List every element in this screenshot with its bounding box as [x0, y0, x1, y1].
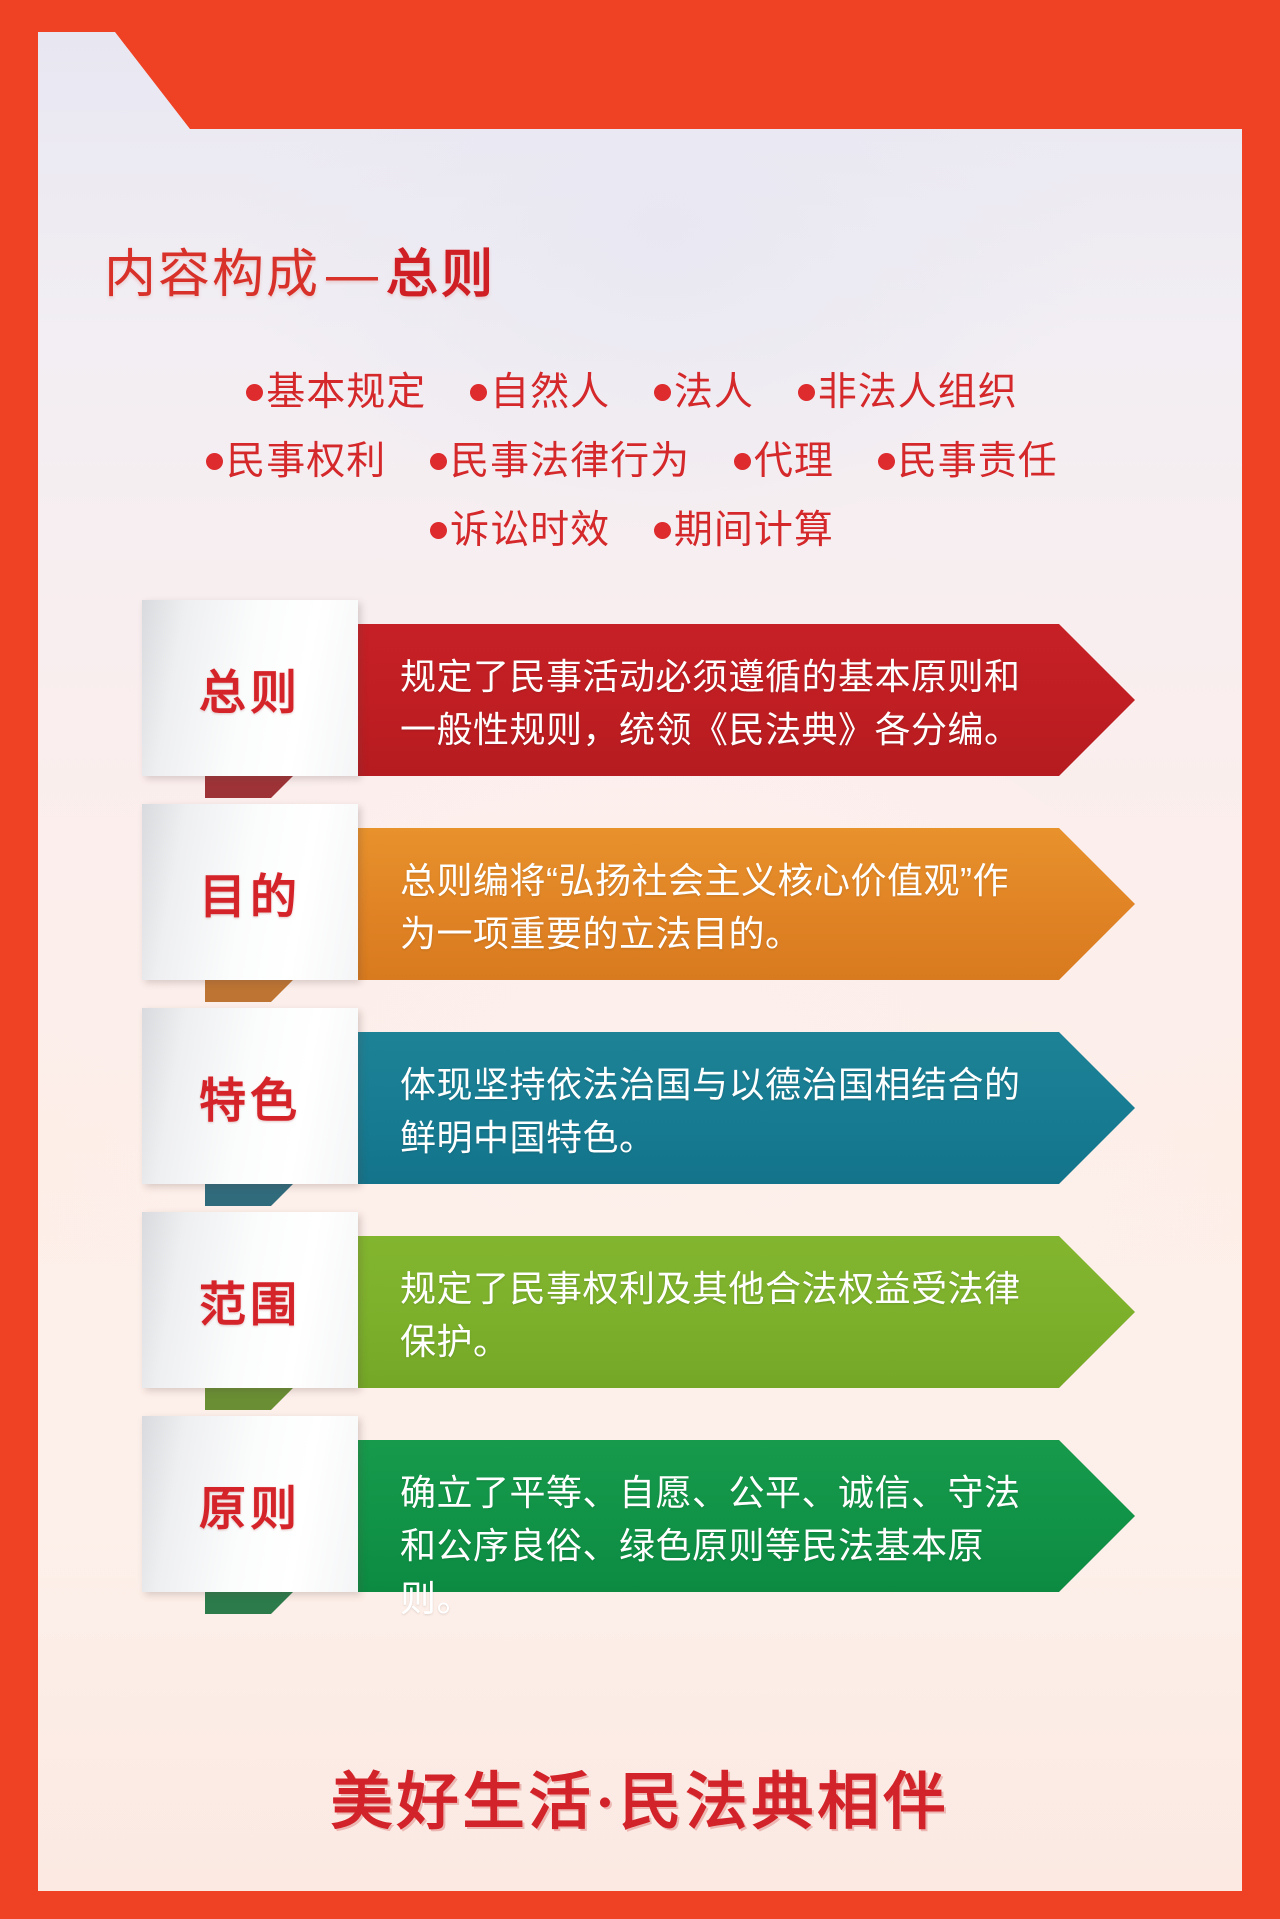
arrow-band-text: 规定了民事权利及其他合法权益受法律保护。	[400, 1262, 1025, 1368]
arrow-label: 原则	[199, 1470, 301, 1539]
bullet-item: 诉讼时效	[430, 496, 610, 565]
poster: 第四个“民法典宣传月” | 2024年5月 内容构成—总则 基本规定 自然人 法…	[0, 0, 1280, 1919]
header-banner	[0, 0, 1280, 129]
bullet-dot-icon	[654, 522, 671, 539]
bullet-label: 民事法律行为	[450, 440, 690, 483]
arrow-row-mudi: 总则编将“弘扬社会主义核心价值观”作为一项重要的立法目的。 目的	[0, 804, 1280, 980]
bullet-item: 代理	[734, 427, 834, 496]
section-title-strong: 总则	[386, 246, 496, 304]
bullet-row-1: 基本规定 自然人 法人 非法人组织	[0, 358, 1280, 427]
bullet-dot-icon	[470, 384, 487, 401]
arrow-band-text: 确立了平等、自愿、公平、诚信、守法和公序良俗、绿色原则等民法基本原则。	[400, 1466, 1025, 1625]
arrow-label: 总则	[199, 654, 301, 723]
bullet-dot-icon	[734, 453, 751, 470]
arrow-band-shadow	[205, 1184, 293, 1206]
arrow-label-card: 特色	[142, 1008, 358, 1184]
bullet-item: 期间计算	[654, 496, 834, 565]
bullet-label: 诉讼时效	[450, 509, 610, 552]
bullet-list: 基本规定 自然人 法人 非法人组织 民事权利 民事法律行为 代理 民事责任 诉讼…	[0, 358, 1280, 565]
bullet-label: 期间计算	[674, 509, 834, 552]
bullet-label: 民事权利	[226, 440, 386, 483]
bullet-label: 基本规定	[266, 371, 426, 414]
bullet-dot-icon	[206, 453, 223, 470]
bullet-item: 民事权利	[206, 427, 386, 496]
arrow-row-yuanze: 确立了平等、自愿、公平、诚信、守法和公序良俗、绿色原则等民法基本原则。 原则	[0, 1416, 1280, 1592]
bullet-row-3: 诉讼时效 期间计算	[0, 496, 1280, 565]
bullet-dot-icon	[246, 384, 263, 401]
section-title: 内容构成—总则	[104, 232, 496, 307]
bullet-label: 民事责任	[898, 440, 1058, 483]
arrow-band-shadow	[205, 1388, 293, 1410]
bullet-label: 法人	[674, 371, 754, 414]
arrow-band-text: 规定了民事活动必须遵循的基本原则和一般性规则，统领《民法典》各分编。	[400, 650, 1025, 756]
bullet-dot-icon	[654, 384, 671, 401]
arrow-band-shadow	[205, 776, 293, 798]
bullet-dot-icon	[430, 522, 447, 539]
arrow-row-zongze: 规定了民事活动必须遵循的基本原则和一般性规则，统领《民法典》各分编。 总则	[0, 600, 1280, 776]
arrow-row-fanwei: 规定了民事权利及其他合法权益受法律保护。 范围	[0, 1212, 1280, 1388]
footer-slogan-wrap: 美好生活·民法典相伴	[0, 1751, 1280, 1841]
bullet-label: 自然人	[490, 371, 610, 414]
bullet-item: 法人	[654, 358, 754, 427]
arrow-row-tese: 体现坚持依法治国与以德治国相结合的鲜明中国特色。 特色	[0, 1008, 1280, 1184]
bullet-item: 基本规定	[246, 358, 426, 427]
bullet-dot-icon	[430, 453, 447, 470]
arrow-band-text: 体现坚持依法治国与以德治国相结合的鲜明中国特色。	[400, 1058, 1025, 1164]
arrow-band-text: 总则编将“弘扬社会主义核心价值观”作为一项重要的立法目的。	[400, 854, 1025, 960]
arrow-label: 特色	[199, 1062, 301, 1131]
section-title-dash: —	[320, 246, 386, 304]
footer-slogan: 美好生活·民法典相伴	[331, 1769, 950, 1837]
bullet-dot-icon	[798, 384, 815, 401]
arrow-label: 范围	[199, 1266, 301, 1335]
bullet-dot-icon	[878, 453, 895, 470]
bullet-row-2: 民事权利 民事法律行为 代理 民事责任	[0, 427, 1280, 496]
arrow-label-card: 总则	[142, 600, 358, 776]
bullet-item: 非法人组织	[798, 358, 1018, 427]
bullet-item: 自然人	[470, 358, 610, 427]
section-title-main: 内容构成	[104, 246, 320, 304]
arrow-label-card: 范围	[142, 1212, 358, 1388]
bullet-label: 非法人组织	[818, 371, 1018, 414]
arrow-band-shadow	[205, 980, 293, 1002]
arrow-row-list: 规定了民事活动必须遵循的基本原则和一般性规则，统领《民法典》各分编。 总则 总则…	[0, 600, 1280, 1620]
bullet-item: 民事责任	[878, 427, 1058, 496]
arrow-label: 目的	[199, 858, 301, 927]
arrow-label-card: 目的	[142, 804, 358, 980]
arrow-label-card: 原则	[142, 1416, 358, 1592]
bullet-label: 代理	[754, 440, 834, 483]
arrow-band-shadow	[205, 1592, 293, 1614]
bullet-item: 民事法律行为	[430, 427, 690, 496]
